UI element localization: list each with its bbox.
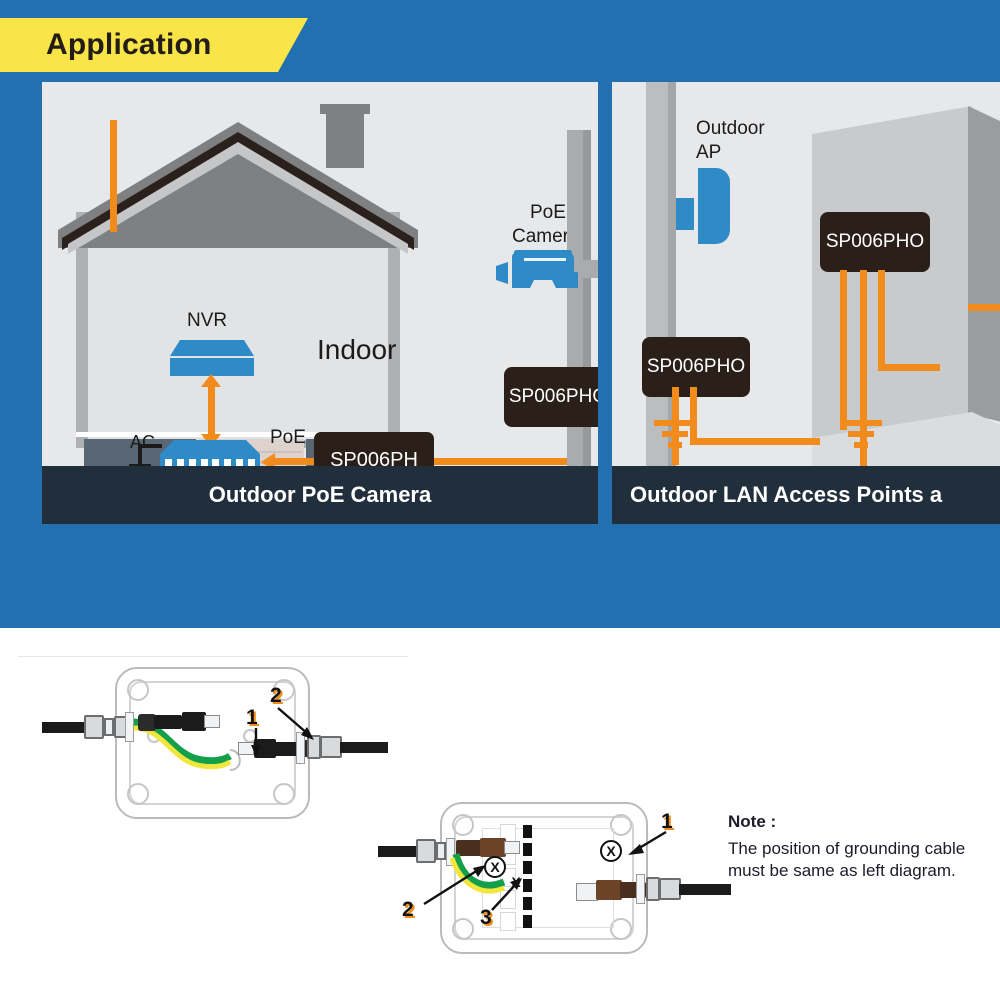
panel-left-stage: NVR Indoor AC PoE Switch PoE PoE Camera xyxy=(42,82,598,466)
device-box-sp006pho-outdoor: SP006PHO xyxy=(504,367,598,427)
camera-body-lower xyxy=(512,272,578,288)
note-line-2: must be same as left diagram. xyxy=(728,860,996,882)
label-ac: AC xyxy=(130,432,155,453)
callout-arrow-2-right xyxy=(420,862,490,910)
callout-arrow-2-left xyxy=(276,706,322,746)
x-mark-1: X xyxy=(600,840,622,862)
house-interior xyxy=(88,220,388,440)
label-indoor: Indoor xyxy=(317,334,396,366)
callout-number-1-left: 1 xyxy=(246,706,258,730)
screw-hole xyxy=(273,783,295,805)
cable-segment xyxy=(840,270,847,430)
panel-right-caption: Outdoor LAN Access Points a xyxy=(612,466,1000,524)
outdoor-ap-icon xyxy=(698,168,730,244)
wall-front-face xyxy=(812,106,972,438)
cable-segment xyxy=(968,304,1000,311)
cable-segment xyxy=(434,458,584,465)
label-outdoor-ap-line1: Outdoor xyxy=(696,118,765,140)
divider-line xyxy=(18,656,408,657)
screw-hole xyxy=(127,783,149,805)
callout-arrow-1-left xyxy=(248,728,274,758)
cable-segment xyxy=(672,387,679,465)
cable-segment xyxy=(690,438,820,445)
contact-bar xyxy=(523,825,532,838)
label-outdoor-ap-line2: AP xyxy=(696,142,721,164)
note-line-1: The position of grounding cable xyxy=(728,838,996,860)
poe-camera-icon xyxy=(494,250,598,300)
nvr-device-top xyxy=(170,340,254,356)
ac-cord-drop xyxy=(138,444,142,466)
outdoor-ap-bracket xyxy=(676,198,694,230)
label-nvr: NVR xyxy=(187,310,227,332)
bulkhead-bracket-right-2 xyxy=(636,874,645,904)
device-box-label: SP006PHO xyxy=(509,386,598,408)
poe-switch-top xyxy=(160,440,260,454)
callout-number-2-left: 2 xyxy=(270,684,282,708)
callout-arrow-3-right xyxy=(488,876,530,916)
nvr-switch-link xyxy=(208,382,215,438)
note-block: Note : The position of grounding cable m… xyxy=(728,812,996,883)
panel-outdoor-lan-access-points: Outdoor AP SP006PHO SP006PHO xyxy=(612,82,1000,524)
contact-bar xyxy=(523,915,532,928)
device-box-label: SP006PHO xyxy=(647,356,745,378)
device-box-label: SP006PHO xyxy=(826,231,924,253)
screw-hole xyxy=(452,814,474,836)
application-banner-section: Application NVR xyxy=(0,0,1000,628)
panel-right-stage: Outdoor AP SP006PHO SP006PHO xyxy=(612,82,1000,466)
wall-side-face xyxy=(968,106,1000,438)
cable-segment xyxy=(878,364,940,371)
note-title: Note : xyxy=(728,812,996,832)
label-poe: PoE xyxy=(270,427,306,449)
screw-hole xyxy=(127,679,149,701)
panel-left-caption: Outdoor PoE Camera xyxy=(42,466,598,524)
application-title: Application xyxy=(46,18,212,72)
device-box-sp006pho-wall: SP006PHO xyxy=(820,212,930,272)
cable-segment xyxy=(690,387,697,445)
panel-outdoor-poe-camera: NVR Indoor AC PoE Switch PoE PoE Camera xyxy=(42,82,598,524)
application-ribbon: Application xyxy=(0,18,308,72)
callout-arrow-1-right xyxy=(622,830,670,860)
camera-stripe xyxy=(524,258,566,261)
label-poe-camera-line1: PoE xyxy=(530,202,566,224)
chimney-cap xyxy=(320,104,370,114)
screw-hole xyxy=(452,918,474,940)
camera-cable-drop xyxy=(110,120,117,232)
chimney xyxy=(326,108,364,168)
cable-segment xyxy=(878,270,885,370)
callout-number-2-right: 2 xyxy=(402,898,414,922)
camera-body xyxy=(512,252,574,274)
